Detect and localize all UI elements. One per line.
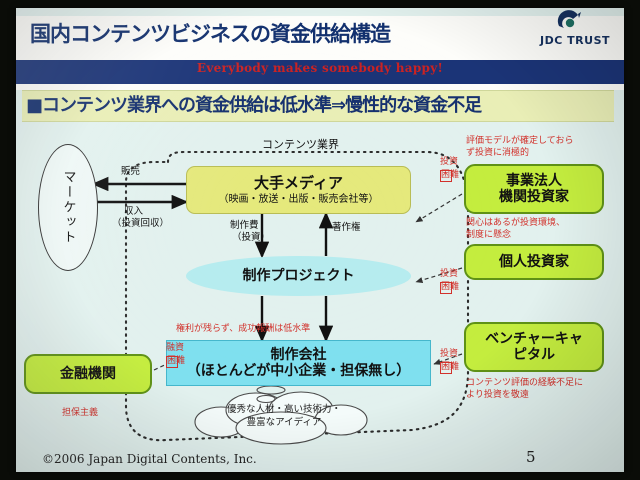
investor-node-venture-capital: ベンチャーキャ ピタル	[464, 322, 604, 372]
page-number: 5	[526, 448, 536, 466]
major-media-title: 大手メディア	[254, 175, 343, 192]
investor-0-line1: 事業法人	[506, 173, 562, 189]
flow-label-copyright: 著作権	[332, 222, 361, 233]
barrier-invest-2-bottom: 困難	[440, 282, 452, 294]
investor-node-individual: 個人投資家	[464, 244, 604, 280]
flow-label-cost-2: （投資）	[232, 232, 270, 243]
rights-note: 権利が残らず、成功報酬は低水準	[176, 324, 310, 335]
production-company-line1: 制作会社	[271, 347, 327, 363]
production-project-node: 制作プロジェクト	[186, 256, 411, 296]
investor-note-2-line1: コンテンツ評価の経験不足に	[466, 378, 583, 389]
presentation-slide: 国内コンテンツビジネスの資金供給構造 JDC TRUST Everybody m…	[16, 8, 624, 472]
barrier-invest-1-top: 投資	[440, 158, 450, 168]
investor-note-0-line1: 評価モデルが確定しておら	[466, 136, 573, 147]
barrier-invest-3-top: 投資	[440, 350, 450, 360]
investor-0-line2: 機関投資家	[499, 189, 569, 205]
financial-institution-node: 金融機関	[24, 354, 152, 394]
barrier-invest-1-bottom: 困難	[440, 170, 452, 182]
swoosh-logo-icon	[556, 10, 582, 34]
banner-text: ■コンテンツ業界への資金供給は低水準⇒慢性的な資金不足	[26, 91, 481, 117]
financial-institution-label: 金融機関	[60, 366, 116, 382]
production-company-line2: （ほとんどが中小企業・担保無し）	[187, 363, 411, 379]
strengths-cloud-text: 優秀な人材・高い技術力・ 豊富なアイディア	[184, 404, 384, 430]
major-media-subtitle: （映画・放送・出版・販売会社等）	[219, 194, 379, 206]
barrier-invest-2-top: 投資	[440, 270, 450, 280]
flow-label-sales: 販売	[121, 166, 140, 177]
investor-note-0-line2: ず投資に消極的	[466, 148, 529, 159]
investor-2-line2: ピタル	[513, 347, 555, 363]
financial-institution-note: 担保主義	[62, 408, 98, 419]
barrier-loan-bottom: 困難	[166, 356, 178, 368]
market-label: マーケット	[39, 145, 97, 270]
investor-note-1-line1: 関心はあるが投資環境、	[466, 218, 565, 229]
cloud-line1: 優秀な人材・高い技術力・	[184, 404, 384, 417]
cloud-line2: 豊富なアイディア	[184, 417, 384, 430]
investor-1-line1: 個人投資家	[499, 254, 569, 270]
copyright-text: ©2006 Japan Digital Contents, Inc.	[42, 452, 257, 466]
investor-note-1-line2: 制度に懸念	[466, 230, 511, 241]
production-company-node: 制作会社 （ほとんどが中小企業・担保無し）	[166, 340, 431, 386]
production-project-label: 制作プロジェクト	[243, 268, 355, 284]
logo-text: JDC TRUST	[540, 34, 610, 47]
jdc-trust-logo: JDC TRUST	[512, 10, 616, 52]
flow-label-cost-1: 制作費	[230, 220, 259, 231]
diagram-canvas: コンテンツ業界 マーケット 販売 収入 （投資回収） 制作費 （投資） 著作権 …	[16, 122, 624, 472]
investor-note-2-line2: より投資を敬遠	[466, 390, 529, 401]
projector-screen: 国内コンテンツビジネスの資金供給構造 JDC TRUST Everybody m…	[0, 0, 640, 480]
flow-label-income-1: 収入	[124, 206, 143, 217]
barrier-invest-3-bottom: 困難	[440, 362, 452, 374]
tagline: Everybody makes somebody happy!	[16, 61, 624, 75]
investor-2-line1: ベンチャーキャ	[485, 331, 583, 347]
major-media-node: 大手メディア （映画・放送・出版・販売会社等）	[186, 166, 411, 214]
flow-label-income-2: （投資回収）	[112, 218, 169, 229]
barrier-loan-top: 融資	[166, 344, 176, 354]
blocked-arrow-1	[416, 194, 462, 222]
page-title: 国内コンテンツビジネスの資金供給構造	[30, 18, 390, 48]
industry-boundary-label: コンテンツ業界	[262, 136, 339, 152]
market-node: マーケット	[38, 144, 98, 271]
investor-node-corporate: 事業法人 機関投資家	[464, 164, 604, 214]
